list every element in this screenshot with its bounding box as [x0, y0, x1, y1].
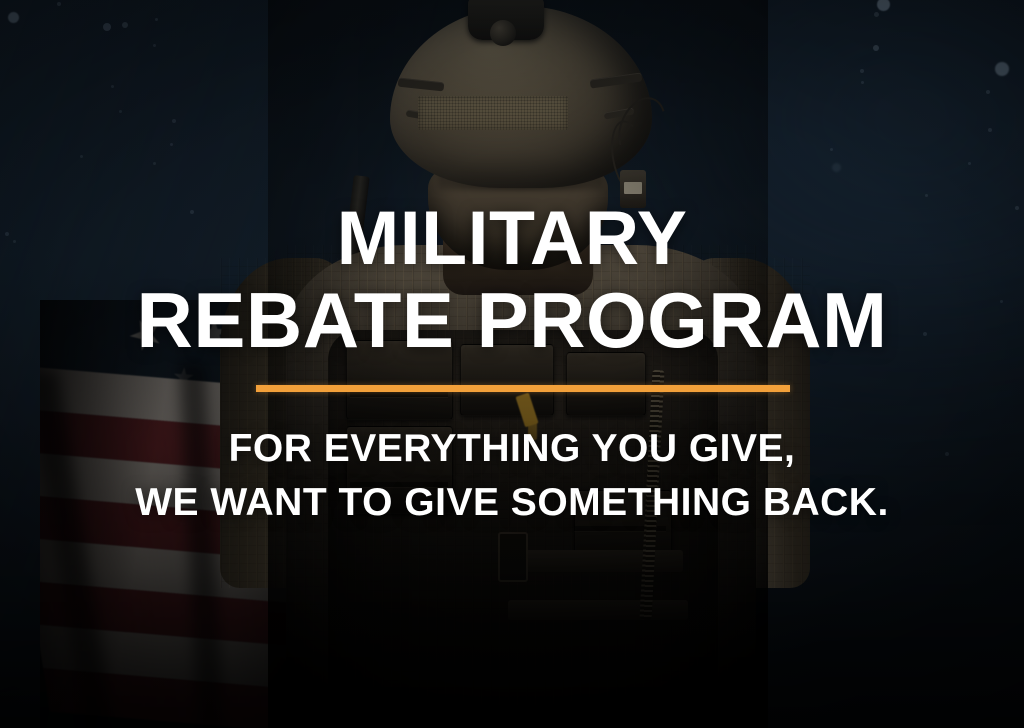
- mag-pouch: [346, 340, 453, 420]
- comms-label-tag: [624, 182, 642, 194]
- helmet-velcro-panel: [418, 96, 568, 130]
- cummerbund-strap: [508, 550, 683, 572]
- accent-tab: [528, 422, 537, 440]
- military-rebate-banner: ★ ★ ★ ★: [0, 0, 1024, 728]
- nvg-adjust-knob: [490, 20, 516, 46]
- mag-pouch: [346, 426, 453, 514]
- mag-pouch: [460, 344, 554, 416]
- soldier-figure: [268, 0, 768, 728]
- cummerbund-strap: [508, 600, 688, 620]
- utility-pouch: [566, 352, 646, 416]
- strap-buckle: [498, 532, 528, 582]
- plate-carrier-vest: [328, 330, 718, 728]
